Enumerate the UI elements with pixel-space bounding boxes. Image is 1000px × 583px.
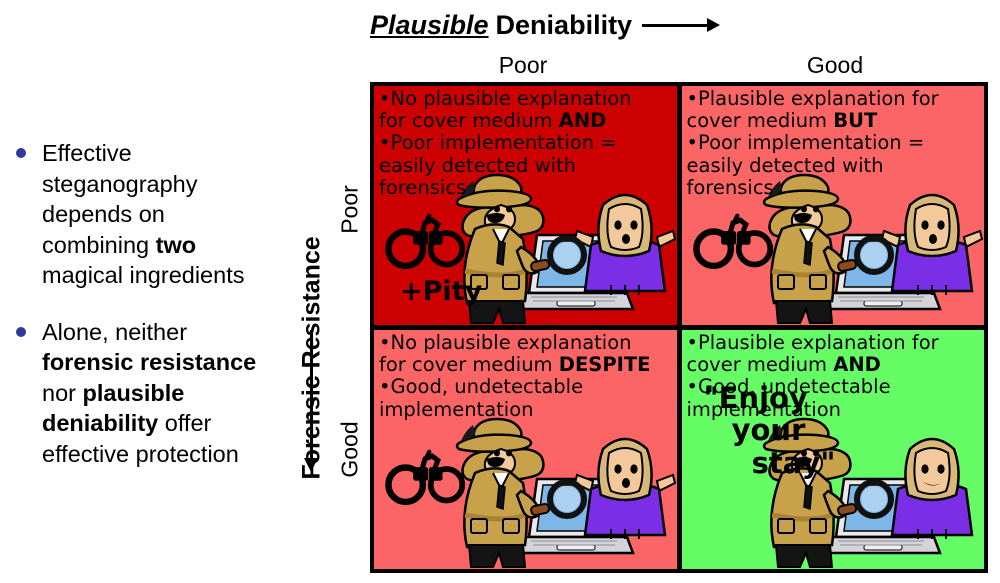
bullet-dot-icon: [16, 148, 26, 158]
callout-line-2: your: [694, 414, 844, 446]
bullet-dot-icon: [16, 327, 26, 337]
callout-line-3: stay": [694, 447, 844, 479]
quadrant-matrix: •No plausible explanationfor cover mediu…: [370, 82, 988, 573]
quadrant-cell-poor-good[interactable]: •Plausible explanation forcover medium B…: [682, 86, 985, 325]
cell-text: •No plausible explanationfor cover mediu…: [379, 332, 675, 421]
bullet-list: Effectivesteganographydepends oncombinin…: [8, 138, 290, 495]
pity-callout: +Pity: [400, 276, 482, 307]
quadrant-cell-poor-poor[interactable]: •No plausible explanationfor cover mediu…: [374, 86, 677, 325]
list-item: Alone, neitherforensic resistancenor pla…: [8, 317, 290, 470]
scene-artwork: [445, 419, 675, 569]
x-axis-title-rest: Deniability: [496, 10, 633, 41]
x-axis-title: Plausible Deniability: [370, 8, 770, 42]
bullet-text-1: Effectivesteganographydepends oncombinin…: [42, 138, 290, 291]
shrugging-woman-icon: [575, 439, 675, 539]
row-header-poor-label: Poor: [337, 160, 364, 260]
row-header-good: Good: [330, 430, 370, 470]
callout-line-1: "Enjoy: [694, 382, 844, 414]
quadrant-cell-good-poor[interactable]: •No plausible explanationfor cover mediu…: [374, 330, 677, 569]
x-axis-title-emphasis: Plausible: [370, 10, 489, 41]
right-arrow-icon: [642, 18, 720, 32]
column-header-good: Good: [682, 52, 988, 79]
quadrant-cell-good-good[interactable]: •Plausible explanation forcover medium A…: [682, 330, 985, 569]
cell-text: •Plausible explanation forcover medium B…: [687, 88, 983, 199]
enjoy-your-stay-callout: "Enjoy your stay": [694, 382, 844, 479]
shrugging-woman-icon: [575, 195, 675, 295]
down-arrow-icon: [303, 330, 319, 476]
cell-text: •No plausible explanationfor cover mediu…: [379, 88, 675, 199]
slide-canvas: Effectivesteganographydepends oncombinin…: [0, 0, 1000, 583]
woman-icon: [892, 439, 972, 539]
shrugging-woman-icon: [882, 195, 982, 295]
row-header-good-label: Good: [337, 400, 364, 500]
list-item: Effectivesteganographydepends oncombinin…: [8, 138, 290, 291]
row-header-poor: Poor: [330, 190, 370, 230]
column-header-poor: Poor: [370, 52, 676, 79]
bullet-text-2: Alone, neitherforensic resistancenor pla…: [42, 317, 290, 470]
